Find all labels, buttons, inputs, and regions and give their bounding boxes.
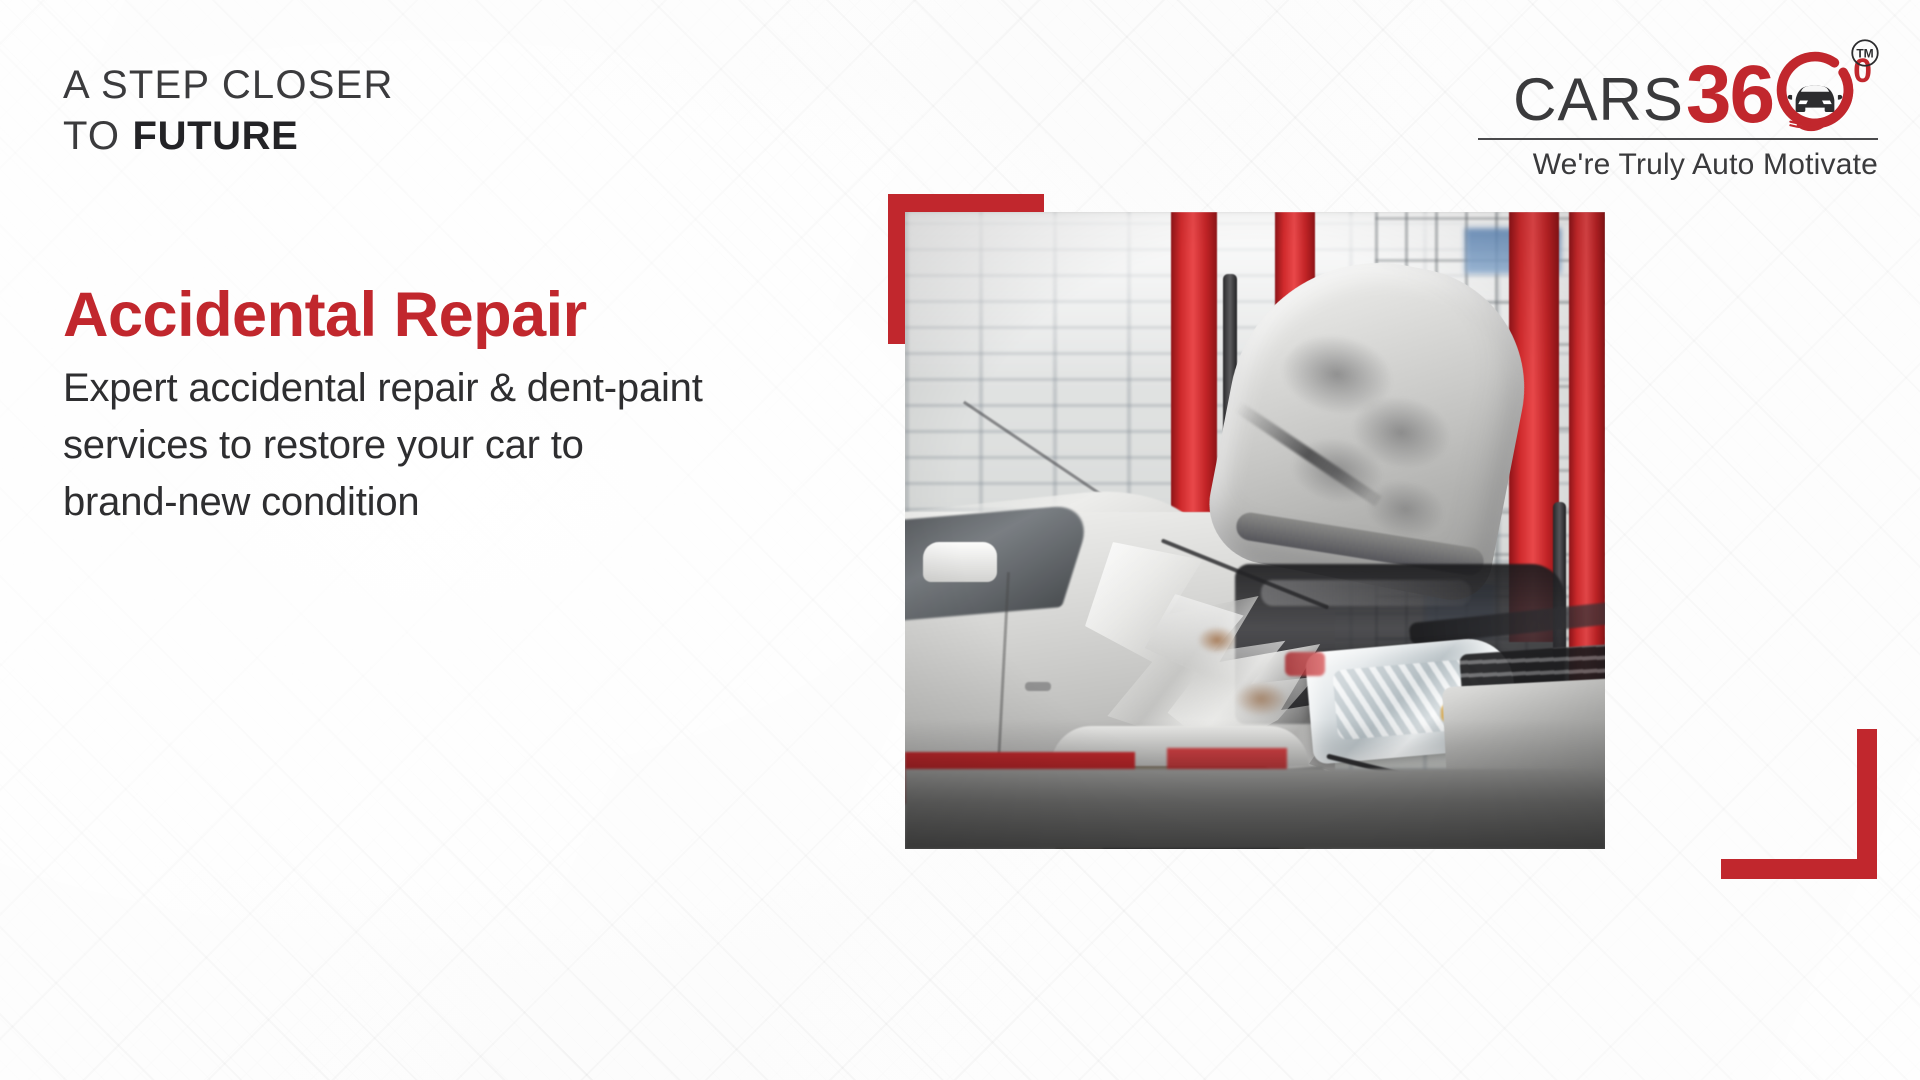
tagline-line-2-bold: FUTURE [133, 114, 299, 158]
photo-vignette [905, 212, 1605, 849]
logo-wordmark-row: CARS 36 0 TM [1478, 46, 1878, 132]
photo-corner-accent-bottom-right [1721, 729, 1877, 879]
tagline-line-2-light: TO [63, 114, 133, 158]
logo-cars-text: CARS [1513, 70, 1684, 130]
page-title: Accidental Repair [63, 282, 587, 348]
description-line-1: Expert accidental repair & dent-paint [63, 360, 703, 417]
logo-36-text: 36 [1686, 54, 1773, 136]
brand-logo[interactable]: CARS 36 0 TM We're Truly Auto Motivate [1478, 46, 1878, 182]
brand-tagline: A STEP CLOSER TO FUTURE [63, 62, 394, 160]
damaged-car-photo [905, 212, 1605, 849]
description-line-3: brand-new condition [63, 474, 703, 531]
logo-sub-tagline: We're Truly Auto Motivate [1478, 148, 1878, 182]
tagline-line-2: TO FUTURE [63, 113, 394, 160]
description-line-2: services to restore your car to [63, 417, 703, 474]
trademark-icon: TM [1850, 38, 1880, 68]
svg-text:TM: TM [1856, 47, 1873, 61]
car-in-circle-with-hand-icon [1771, 46, 1859, 134]
hero-photo-zone [905, 212, 1605, 849]
tagline-line-1: A STEP CLOSER [63, 62, 394, 109]
logo-divider-rule [1478, 138, 1878, 140]
service-description: Expert accidental repair & dent-paint se… [63, 360, 703, 530]
